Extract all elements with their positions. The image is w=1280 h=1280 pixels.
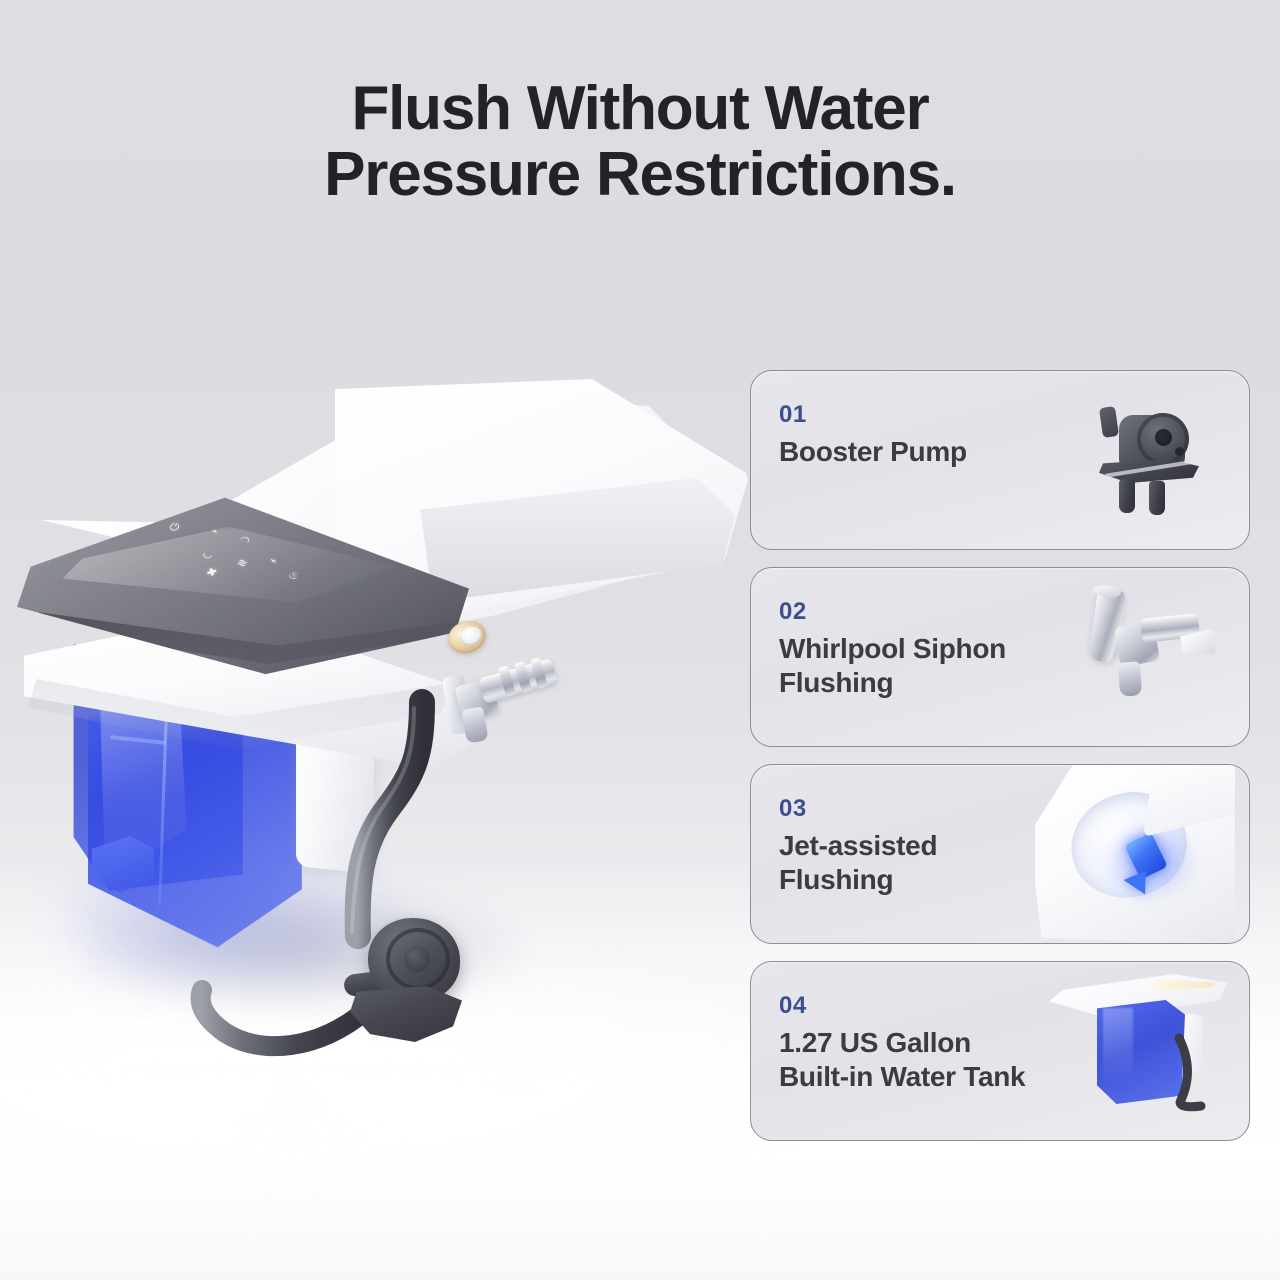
card-text-block: 04 1.27 US Gallon Built-in Water Tank [779,992,1079,1094]
card-text-block: 02 Whirlpool Siphon Flushing [779,598,1079,700]
page-headline: Flush Without Water Pressure Restriction… [0,76,1280,207]
card-art-water-tank [1045,962,1235,1140]
product-render: ⏻ ⌃ ◡ ◠ ≋ ⌁ ♨ ✖ [10,370,740,1070]
feature-card-booster-pump[interactable]: 01 Booster Pump [750,370,1250,550]
headline-line-2: Pressure Restrictions. [0,142,1280,208]
pump-bore [1155,429,1172,446]
card-label: Booster Pump [779,435,1079,469]
mini-hose [1171,1036,1215,1110]
card-art-whirlpool-siphon [1045,568,1235,746]
headline-line-1: Flush Without Water [351,74,928,143]
booster-pump-icon [1093,397,1201,517]
pump-screw [1175,447,1184,456]
card-label: Jet-assisted Flushing [779,829,1079,897]
card-number: 01 [779,401,1079,429]
card-text-block: 01 Booster Pump [779,401,1079,469]
card-number: 04 [779,992,1079,1020]
hinge-inner-cap [458,624,484,648]
pump-mounting-foot [350,986,462,1042]
card-art-booster-pump [1045,371,1235,549]
valve-leg [1118,661,1142,696]
feature-card-jet-assisted[interactable]: 03 Jet-assisted Flushing [750,764,1250,944]
product-feature-page: Flush Without Water Pressure Restriction… [0,0,1280,1280]
feature-card-water-tank[interactable]: 04 1.27 US Gallon Built-in Water Tank [750,961,1250,1141]
card-number: 03 [779,795,1079,823]
card-label: 1.27 US Gallon Built-in Water Tank [779,1026,1079,1094]
booster-pump [346,916,476,1044]
card-label: Whirlpool Siphon Flushing [779,632,1079,700]
pump-hub [404,946,430,972]
hose-lower [190,966,370,1066]
toilet-bowl-jet-icon [1035,765,1235,944]
feature-card-whirlpool-siphon[interactable]: 02 Whirlpool Siphon Flushing [750,567,1250,747]
feature-card-list: 01 Booster Pump 02 [750,370,1250,1141]
siphon-valve-icon [1077,582,1217,722]
built-in-water-tank-icon [1041,966,1231,1126]
pump-port [1119,479,1135,513]
pump-neck [1099,406,1119,438]
card-art-jet-assisted [1045,765,1235,943]
mini-tank-highlight [1103,1008,1133,1080]
card-number: 02 [779,598,1079,626]
card-text-block: 03 Jet-assisted Flushing [779,795,1079,897]
pump-port [1149,481,1165,515]
